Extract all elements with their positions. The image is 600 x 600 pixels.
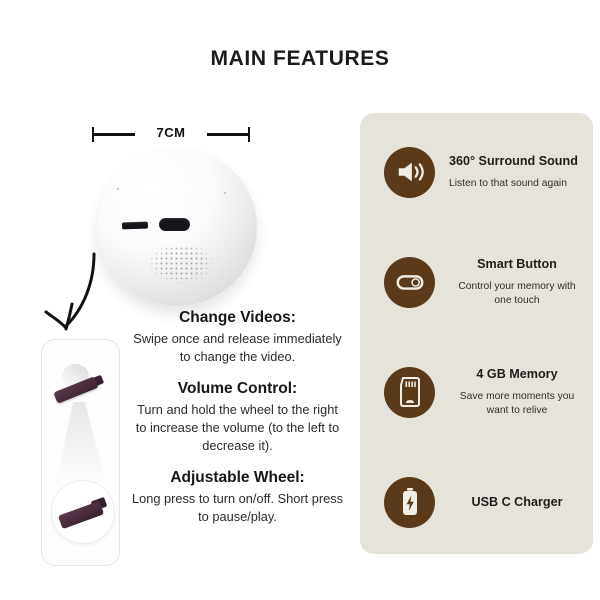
zoom-cone xyxy=(56,402,106,484)
instruction-list: Change Videos: Swipe once and release im… xyxy=(130,308,345,527)
dimension-ruler: 7CM xyxy=(92,126,250,146)
speaker-grille-icon xyxy=(149,246,213,284)
product-column: 7CM xyxy=(0,0,355,600)
speaker-icon xyxy=(384,147,435,198)
feature-row-surround-sound[interactable]: 360° Surround Sound Listen to that sound… xyxy=(360,117,593,227)
feature-text: USB C Charger xyxy=(435,494,593,510)
feature-row-usb-charger[interactable]: USB C Charger xyxy=(360,447,593,557)
instruction-title: Change Videos: xyxy=(130,308,345,328)
instruction-adjustable-wheel: Adjustable Wheel: Long press to turn on/… xyxy=(130,468,345,526)
feature-title: Smart Button xyxy=(449,256,585,272)
feature-text: 4 GB Memory Save more moments you want t… xyxy=(435,366,593,417)
instruction-volume-control: Volume Control: Turn and hold the wheel … xyxy=(130,379,345,455)
instruction-body: Swipe once and release immediately to ch… xyxy=(130,330,345,366)
feature-row-smart-button[interactable]: Smart Button Control your memory with on… xyxy=(360,227,593,337)
wheel-zoom-detail xyxy=(52,481,114,543)
product-highlight-dot xyxy=(117,188,119,190)
instruction-body: Long press to turn on/off. Short press t… xyxy=(130,490,345,526)
infographic-page: MAIN FEATURES 7CM xyxy=(0,0,600,600)
ruler-bar-right xyxy=(207,133,249,136)
feature-subtitle: Control your memory with one touch xyxy=(449,280,585,308)
instruction-title: Volume Control: xyxy=(130,379,345,399)
memory-card-icon xyxy=(384,367,435,418)
wheel-body-zoom xyxy=(58,501,104,529)
product-image-sphere xyxy=(97,148,257,306)
feature-subtitle: Listen to that sound again xyxy=(449,177,585,191)
feature-row-memory[interactable]: 4 GB Memory Save more moments you want t… xyxy=(360,337,593,447)
feature-text: Smart Button Control your memory with on… xyxy=(435,256,593,307)
ruler-cap-right xyxy=(248,127,250,142)
feature-title: 360° Surround Sound xyxy=(449,153,585,169)
usb-c-port-icon xyxy=(159,218,190,231)
sd-card-slot-icon xyxy=(122,222,148,230)
toggle-switch-icon xyxy=(384,257,435,308)
battery-charge-icon xyxy=(384,477,435,528)
feature-title: USB C Charger xyxy=(449,494,585,510)
feature-subtitle: Save more moments you want to relive xyxy=(449,390,585,418)
feature-text: 360° Surround Sound Listen to that sound… xyxy=(435,153,593,190)
instruction-body: Turn and hold the wheel to the right to … xyxy=(130,401,345,455)
features-panel: 360° Surround Sound Listen to that sound… xyxy=(360,113,593,554)
wheel-gesture-illustration xyxy=(41,339,120,566)
curved-down-arrow-icon xyxy=(44,252,104,344)
product-highlight-dot xyxy=(224,192,226,194)
feature-title: 4 GB Memory xyxy=(449,366,585,382)
instruction-change-videos: Change Videos: Swipe once and release im… xyxy=(130,308,345,366)
instruction-title: Adjustable Wheel: xyxy=(130,468,345,488)
